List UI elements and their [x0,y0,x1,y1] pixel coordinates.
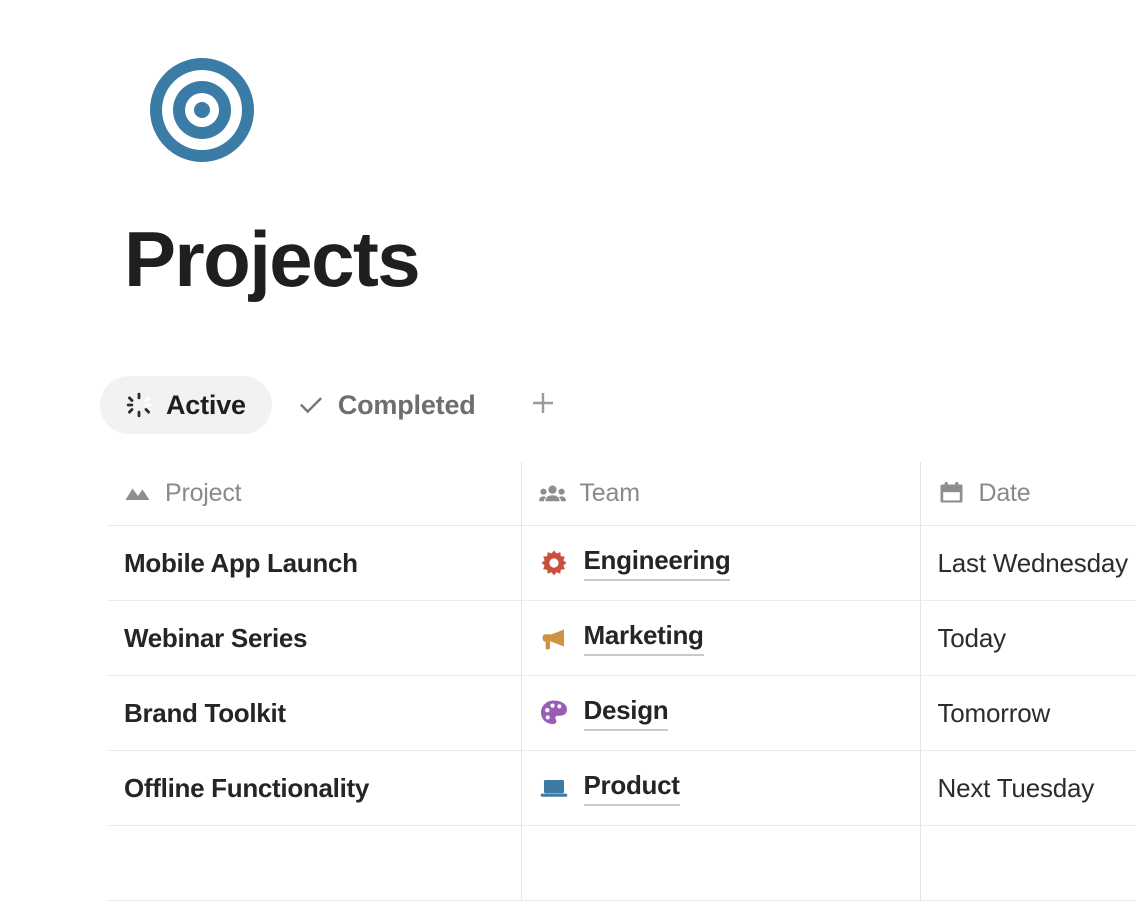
table-row[interactable]: Mobile App Launch Engineering [107,526,1136,601]
team-link[interactable]: Engineering [584,545,731,581]
cell-team: Design [521,676,920,751]
palette-icon [539,698,569,728]
cell-project-name: Webinar Series [107,601,521,676]
cell-team [521,826,920,901]
column-header-project[interactable]: Project [107,462,521,526]
team-link[interactable]: Design [584,695,669,731]
column-header-team[interactable]: Team [521,462,920,526]
column-header-date-label: Date [979,479,1031,508]
table-row[interactable]: Brand Toolkit Design [107,676,1136,751]
people-group-icon [539,480,566,507]
cell-date: Next Tuesday [920,751,1136,826]
tab-completed-label: Completed [338,390,476,421]
cell-project-name [107,826,521,901]
cell-team: Marketing [521,601,920,676]
page-title: Projects [124,211,419,307]
table-row[interactable]: Webinar Series Marketing Today [107,601,1136,676]
mountain-image-icon [124,480,151,507]
cell-date: Today [920,601,1136,676]
team-link[interactable]: Marketing [584,620,704,656]
tab-completed[interactable]: Completed [272,376,502,434]
projects-page: Projects Active [0,0,1136,852]
target-bullseye-icon [148,56,256,164]
column-header-date[interactable]: Date [920,462,1136,526]
column-header-team-label: Team [580,479,640,508]
table-body: Mobile App Launch Engineering [107,526,1136,901]
laptop-icon [539,773,569,803]
cell-team: Product [521,751,920,826]
column-header-project-label: Project [165,479,241,508]
team-link[interactable]: Product [584,770,680,806]
cell-project-name: Offline Functionality [107,751,521,826]
gear-icon [539,548,569,578]
tab-active[interactable]: Active [100,376,272,434]
view-tabs: Active Completed [100,376,570,434]
spinner-icon [126,392,152,418]
check-icon [298,392,324,418]
table-row[interactable]: Offline Functionality Product Nex [107,751,1136,826]
cell-project-name: Brand Toolkit [107,676,521,751]
table-header-row: Project [107,462,1136,526]
cell-project-name: Mobile App Launch [107,526,521,601]
plus-icon [528,388,558,423]
cell-date [920,826,1136,901]
add-view-button[interactable] [516,378,570,432]
calendar-icon [938,480,965,507]
megaphone-icon [539,623,569,653]
table-row-empty[interactable] [107,826,1136,901]
cell-team: Engineering [521,526,920,601]
cell-date: Tomorrow [920,676,1136,751]
projects-table: Project [107,462,1136,901]
tab-active-label: Active [166,390,246,421]
cell-date: Last Wednesday [920,526,1136,601]
